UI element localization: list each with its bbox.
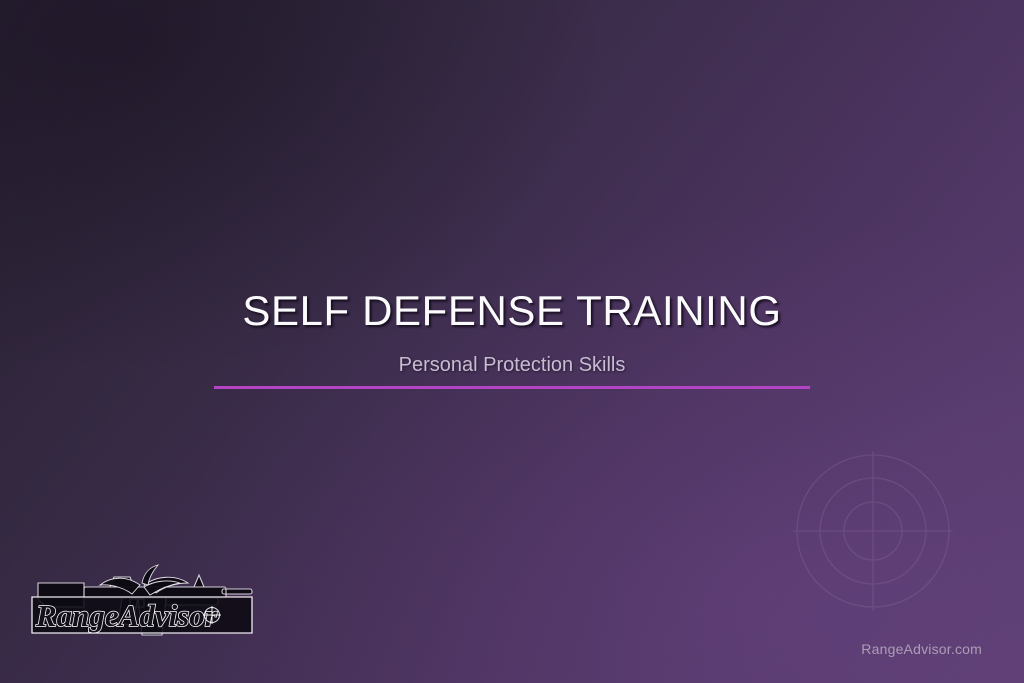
logo-wordmark: RangeAdvisor — [35, 598, 218, 633]
page-title: SELF DEFENSE TRAINING — [0, 288, 1024, 333]
page-subtitle: Personal Protection Skills — [0, 333, 1024, 377]
footer-url: RangeAdvisor.com — [861, 641, 982, 657]
title-block: SELF DEFENSE TRAINING Personal Protectio… — [0, 288, 1024, 377]
title-divider — [214, 386, 810, 389]
presentation-slide: SELF DEFENSE TRAINING Personal Protectio… — [0, 0, 1024, 683]
brand-logo: RangeAdvisor — [26, 563, 258, 655]
